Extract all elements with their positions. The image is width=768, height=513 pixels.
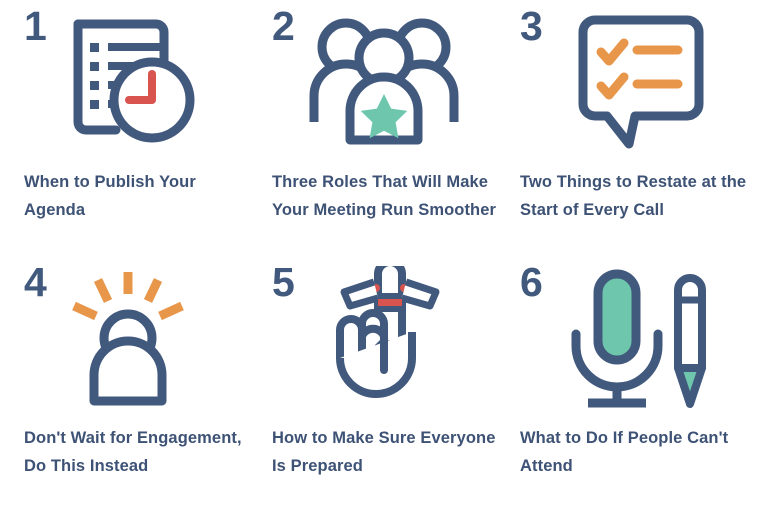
speech-bubble-checklist-icon [512, 8, 768, 158]
item-caption-4: Don't Wait for Engagement, Do This Inste… [24, 424, 250, 480]
item-caption-6: What to Do If People Can't Attend [520, 424, 756, 480]
item-number-4: 4 [24, 262, 46, 303]
infographic-item-6[interactable]: 6 What to Do If People Can't Attend [512, 256, 768, 513]
item-caption-2: Three Roles That Will Make Your Meeting … [272, 168, 504, 224]
infographic-item-4[interactable]: 4 Don't Wait for Engagement, Do This Ins… [0, 256, 256, 513]
microphone-pencil-icon [512, 264, 768, 414]
hand-string-reminder-icon [256, 264, 512, 414]
infographic-item-5[interactable]: 5 How to M [256, 256, 512, 513]
item-number-1: 1 [24, 6, 46, 47]
item-caption-1: When to Publish Your Agenda [24, 168, 250, 224]
infographic-item-2[interactable]: 2 Three Roles That Will Make Your Meetin… [256, 0, 512, 256]
infographic-item-3[interactable]: 3 Two Things to Restate at the Start of … [512, 0, 768, 256]
infographic-item-1[interactable]: 1 When to [0, 0, 256, 256]
item-number-6: 6 [520, 262, 542, 303]
item-number-5: 5 [272, 262, 294, 303]
three-people-star-icon [256, 8, 512, 158]
item-number-3: 3 [520, 6, 542, 47]
item-caption-5: How to Make Sure Everyone Is Prepared [272, 424, 504, 480]
item-caption-3: Two Things to Restate at the Start of Ev… [520, 168, 756, 224]
infographic-grid: 1 When to [0, 0, 768, 513]
item-number-2: 2 [272, 6, 294, 47]
